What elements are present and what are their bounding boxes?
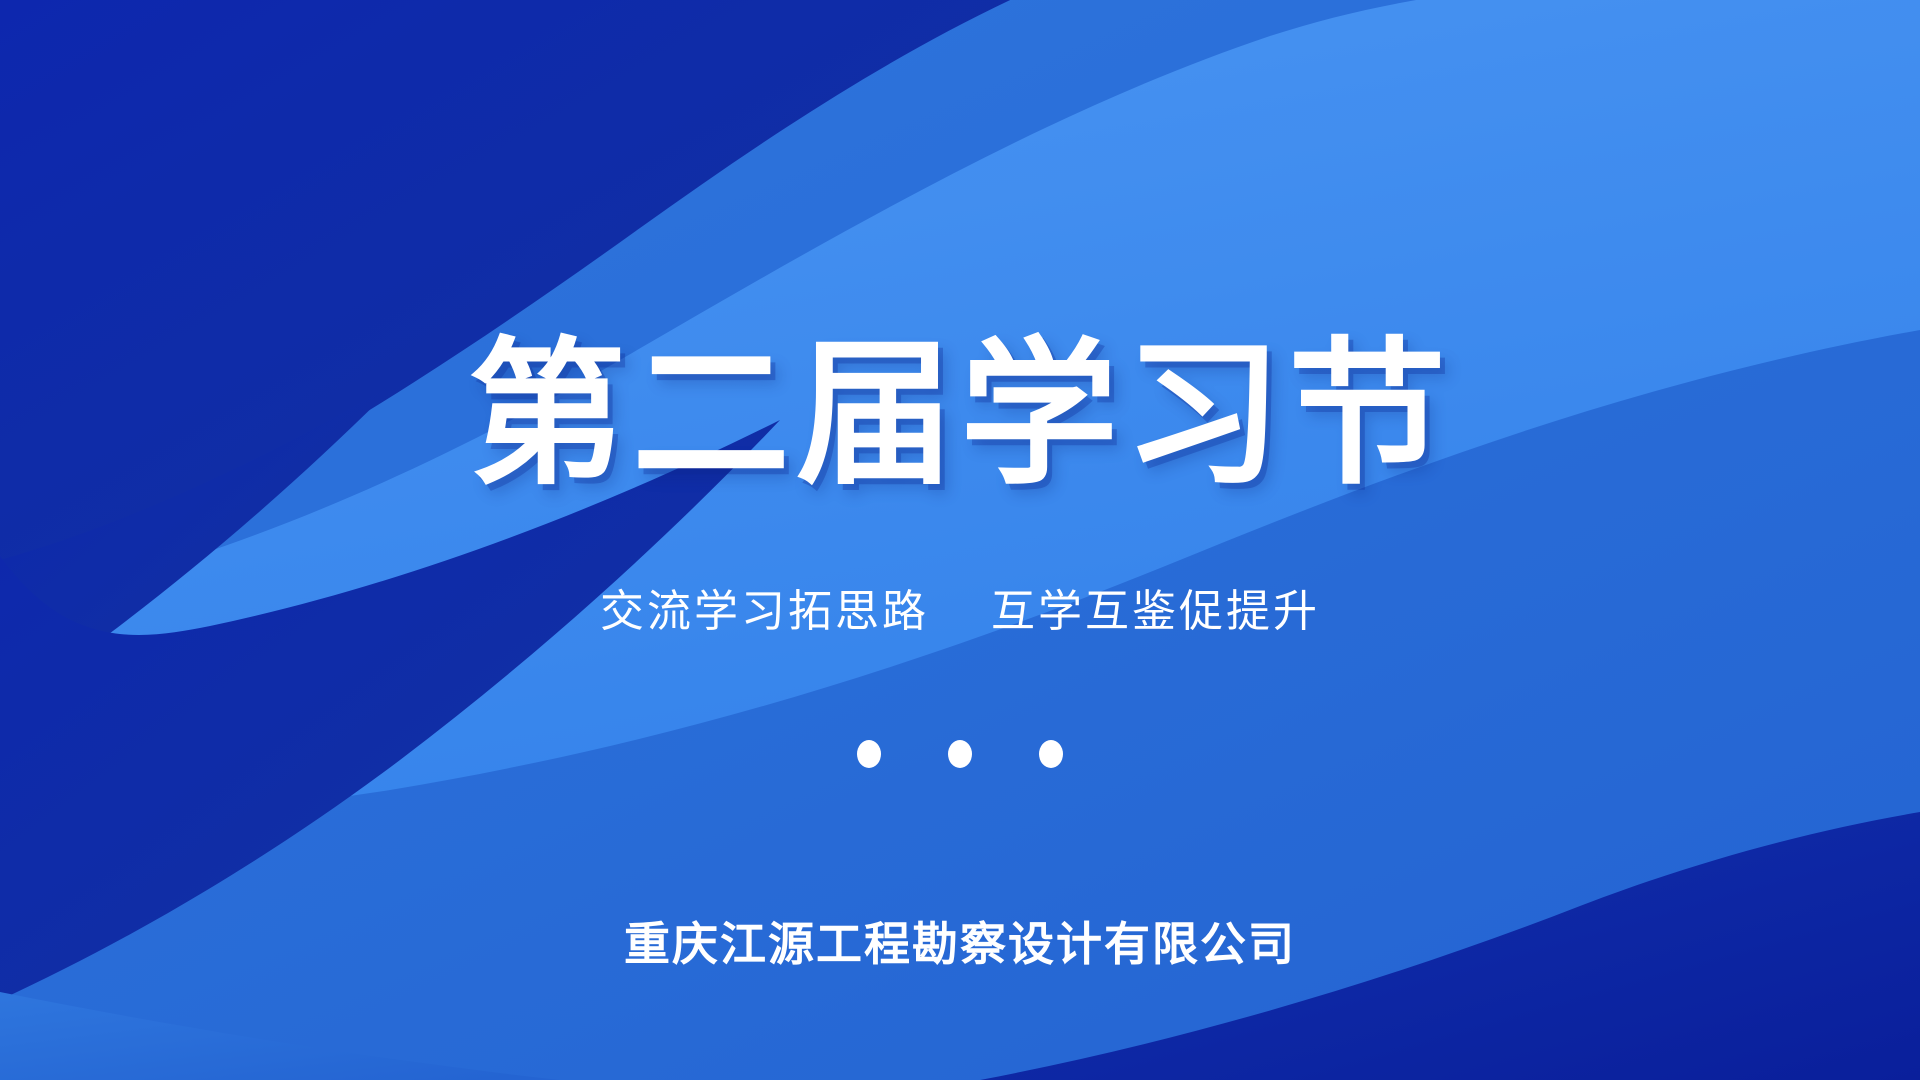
dot-icon [857, 740, 881, 768]
dot-icon [1039, 740, 1063, 768]
divider-dots [0, 740, 1920, 768]
subtitle-block: 交流学习拓思路 互学互鉴促提升 [0, 586, 1920, 639]
dot-icon [948, 740, 972, 768]
poster-canvas: 第二届学习节 交流学习拓思路 互学互鉴促提升 重庆江源工程勘察设计有限公司 [0, 0, 1920, 1080]
subtitle-left: 交流学习拓思路 [600, 586, 929, 639]
company-name: 重庆江源工程勘察设计有限公司 [624, 908, 1296, 974]
subtitle-row: 交流学习拓思路 互学互鉴促提升 [600, 586, 1320, 639]
poster-content: 第二届学习节 交流学习拓思路 互学互鉴促提升 重庆江源工程勘察设计有限公司 [0, 0, 1920, 1080]
company-block: 重庆江源工程勘察设计有限公司 [0, 908, 1920, 974]
subtitle-right: 互学互鉴促提升 [991, 586, 1320, 639]
title-block: 第二届学习节 [0, 330, 1920, 501]
page-title: 第二届学习节 [468, 330, 1452, 501]
